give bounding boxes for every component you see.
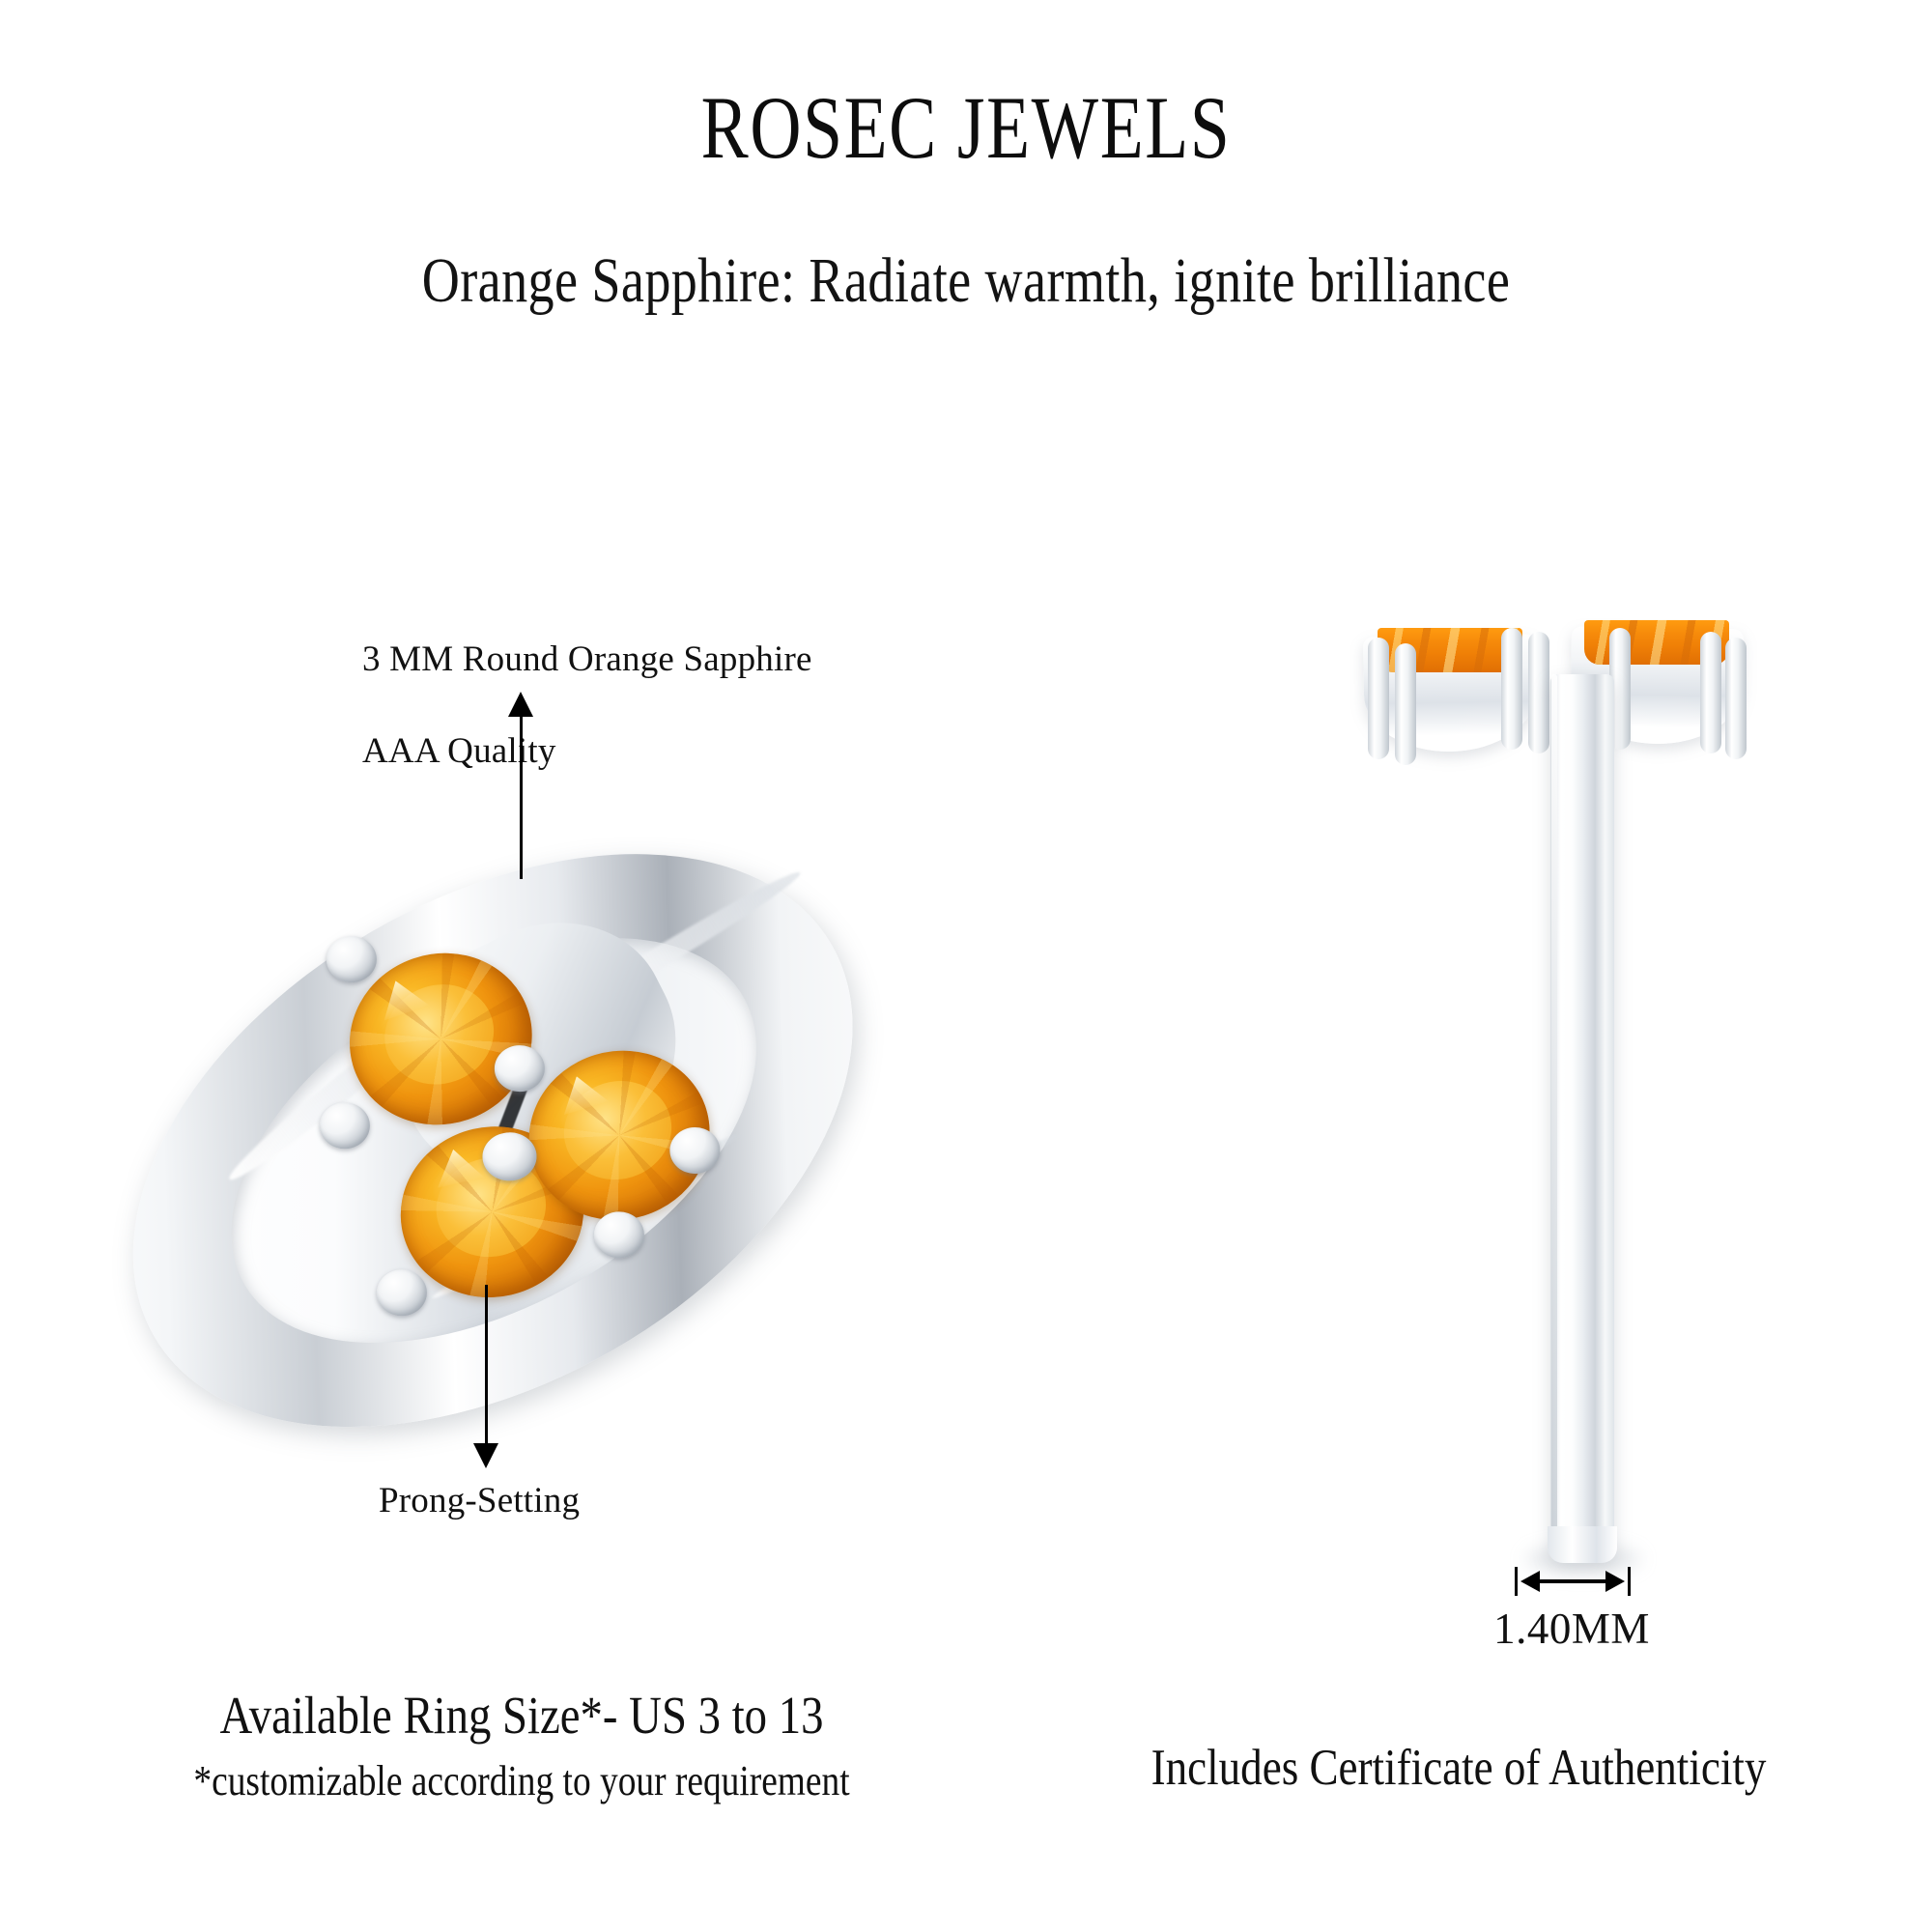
band-width-dimension-marker: [1515, 1567, 1631, 1600]
leader-line-gemstone: [520, 715, 523, 879]
profile-prong: [1501, 628, 1522, 750]
infographic-canvas: ROSEC JEWELS Orange Sapphire: Radiate wa…: [0, 0, 1932, 1932]
dimension-arrow-left: [1520, 1571, 1540, 1592]
dimension-tick-left: [1515, 1567, 1518, 1596]
callout-gemstone-line-2: AAA Quality: [362, 728, 812, 774]
available-ring-size-caption: Available Ring Size*- US 3 to 13: [177, 1685, 867, 1746]
profile-prong: [1368, 638, 1389, 759]
tagline: Orange Sapphire: Radiate warmth, ignite …: [174, 249, 1758, 313]
callout-gemstone-line-1: 3 MM Round Orange Sapphire: [362, 637, 812, 682]
profile-prong: [1395, 643, 1416, 765]
leader-line-prong: [485, 1285, 488, 1445]
customizable-note: *customizable according to your requirem…: [160, 1756, 883, 1805]
brand-title: ROSEC JEWELS: [193, 83, 1739, 172]
callout-gemstone-label: 3 MM Round Orange Sapphire AAA Quality: [362, 591, 812, 820]
profile-prong: [1700, 632, 1721, 753]
band-width-value: 1.40MM: [1461, 1604, 1683, 1654]
band-shank-edge-highlight: [1551, 674, 1557, 1559]
band-shank-base: [1548, 1526, 1617, 1563]
profile-prong: [1725, 638, 1747, 759]
certificate-of-authenticity-caption: Includes Certificate of Authenticity: [1106, 1739, 1812, 1797]
leader-arrow-gemstone: [508, 692, 533, 717]
callout-prong-setting-label: Prong-Setting: [379, 1478, 580, 1523]
profile-prong: [1528, 632, 1549, 753]
band-shank-profile: [1550, 674, 1614, 1559]
leader-arrow-prong: [473, 1443, 498, 1468]
ring-band: [87, 823, 967, 1437]
ring-side-profile-view: [1381, 599, 1797, 1584]
ring-three-quarter-view: [92, 831, 961, 1430]
dimension-arrow-right: [1605, 1571, 1625, 1592]
dimension-tick-right: [1628, 1567, 1631, 1596]
